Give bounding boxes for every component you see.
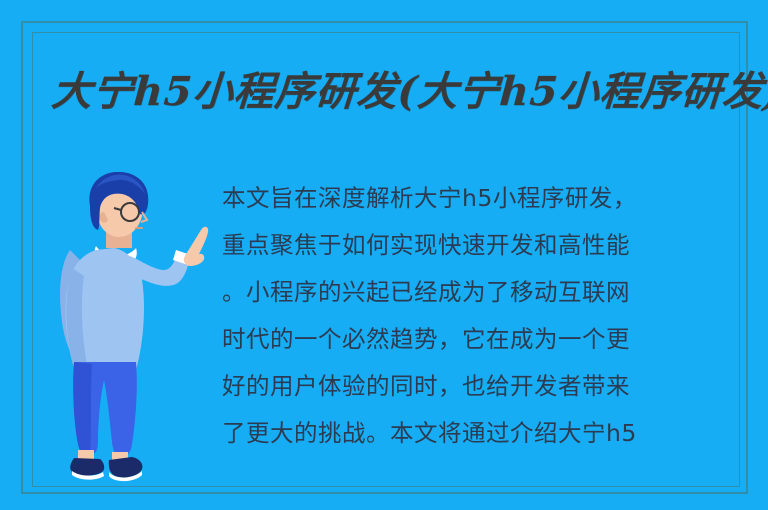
body-line: 重点聚焦于如何实现快速开发和高性能 (222, 222, 716, 269)
left-shoe (70, 458, 104, 476)
body-line: 好的用户体验的同时，也给开发者带来 (222, 363, 716, 410)
body-line: 本文旨在深度解析大宁h5小程序研发， (222, 175, 716, 222)
body-line: 。小程序的兴起已经成为了移动互联网 (222, 269, 716, 316)
article-body: 本文旨在深度解析大宁h5小程序研发， 重点聚焦于如何实现快速开发和高性能 。小程… (222, 175, 716, 457)
poster-canvas: 大宁h5小程序研发(大宁h5小程序研发) (0, 0, 768, 510)
nose-shape (141, 212, 147, 222)
page-title: 大宁h5小程序研发(大宁h5小程序研发) (50, 56, 734, 120)
illustration-svg (52, 172, 217, 482)
man-pointing-right-illustration (52, 172, 217, 482)
pointing-hand (184, 227, 208, 266)
body-line: 了更大的挑战。本文将通过介绍大宁h5 (222, 410, 716, 457)
pants-shadow (73, 362, 92, 455)
body-line: 时代的一个必然趋势，它在成为一个更 (222, 316, 716, 363)
